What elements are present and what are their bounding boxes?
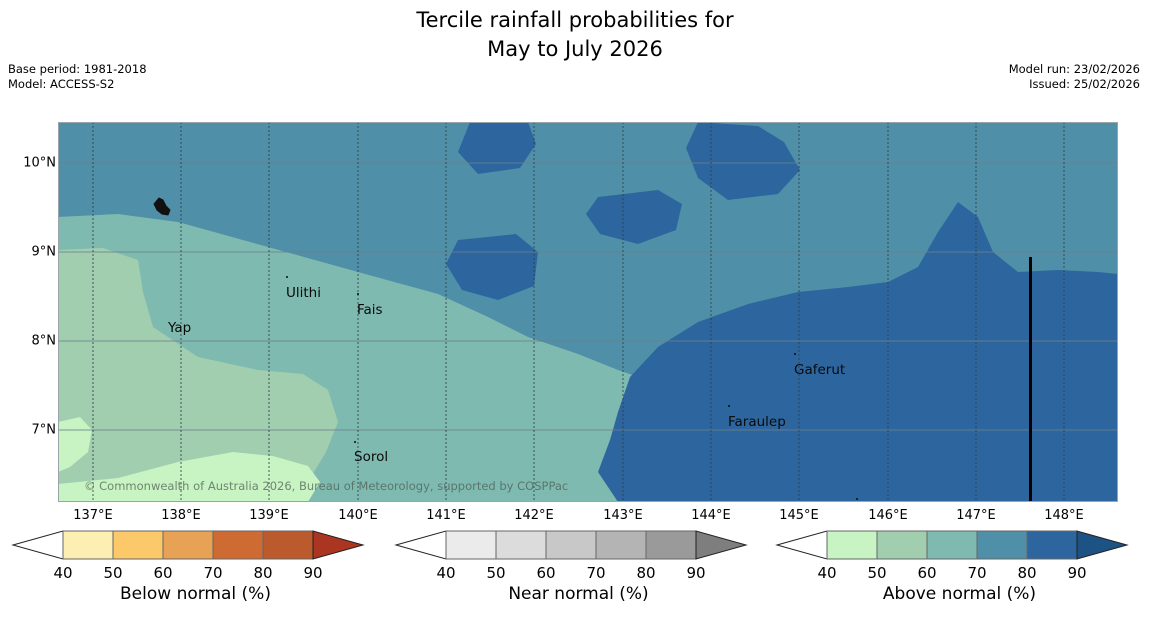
cb-above-tick-90: 90 [1067, 564, 1086, 582]
meta-left: Base period: 1981-2018 Model: ACCESS-S2 [8, 62, 147, 92]
cb-above-title: Above normal (%) [772, 584, 1147, 604]
model-text: Model: ACCESS-S2 [8, 77, 147, 92]
cb-above-tick-50: 50 [867, 564, 886, 582]
place-dot-gaferut [794, 353, 796, 355]
colorbar-above-normal-swatches [772, 528, 1132, 562]
y-tick-9n: 9°N [32, 245, 57, 260]
cb-near-tick-60: 60 [536, 564, 555, 582]
cb-above-tick-70: 70 [967, 564, 986, 582]
page-title: Tercile rainfall probabilities for May t… [0, 6, 1150, 64]
place-label-yap: Yap [168, 320, 191, 336]
model-run-text: Model run: 23/02/2026 [1009, 62, 1140, 77]
cb-near-tick-90: 90 [686, 564, 705, 582]
place-label-faraulep: Faraulep [728, 414, 786, 430]
map-canvas: Ulithi Fais Yap Sorol Gaferut Faraulep W… [58, 122, 1118, 502]
place-dot-lamotrek [856, 498, 858, 500]
cb-near-tick-70: 70 [586, 564, 605, 582]
x-tick-143e: 143°E [603, 508, 643, 523]
y-tick-10n: 10°N [23, 156, 56, 171]
cb-above-tick-40: 40 [817, 564, 836, 582]
colorbar-near-normal-swatches [391, 528, 751, 562]
contour-field [58, 122, 1118, 502]
issued-text: Issued: 25/02/2026 [1009, 77, 1140, 92]
y-tick-7n: 7°N [32, 423, 57, 438]
colorbar-above-normal: 40 50 60 70 80 90 Above normal (%) [772, 528, 1147, 638]
cb-near-tick-80: 80 [636, 564, 655, 582]
x-tick-138e: 138°E [161, 508, 201, 523]
place-dot-faraulep [728, 405, 730, 407]
meridian-line [1029, 257, 1032, 502]
cb-below-tick-80: 80 [253, 564, 272, 582]
colorbar-below-normal: 40 50 60 70 80 90 Below normal (%) [8, 528, 383, 638]
place-label-gaferut: Gaferut [794, 362, 845, 378]
place-label-ulithi: Ulithi [286, 285, 321, 301]
x-tick-145e: 145°E [779, 508, 819, 523]
place-label-fais: Fais [357, 302, 383, 318]
x-tick-139e: 139°E [249, 508, 289, 523]
x-tick-147e: 147°E [956, 508, 996, 523]
place-dot-ulithi [286, 276, 288, 278]
place-dot-sorol [354, 441, 356, 443]
x-tick-146e: 146°E [868, 508, 908, 523]
cb-below-tick-40: 40 [53, 564, 72, 582]
colorbar-below-normal-swatches [8, 528, 368, 562]
cb-below-tick-50: 50 [103, 564, 122, 582]
place-label-sorol: Sorol [354, 449, 388, 465]
place-dot-fais [357, 293, 359, 295]
y-tick-8n: 8°N [32, 334, 57, 349]
cb-below-tick-60: 60 [153, 564, 172, 582]
x-tick-144e: 144°E [691, 508, 731, 523]
cb-near-tick-40: 40 [436, 564, 455, 582]
cb-below-tick-70: 70 [203, 564, 222, 582]
probability-map: Ulithi Fais Yap Sorol Gaferut Faraulep W… [58, 122, 1118, 502]
x-tick-137e: 137°E [73, 508, 113, 523]
colorbar-near-normal: 40 50 60 70 80 90 Near normal (%) [391, 528, 766, 638]
x-tick-141e: 141°E [426, 508, 466, 523]
cb-near-tick-50: 50 [486, 564, 505, 582]
cb-above-tick-80: 80 [1017, 564, 1036, 582]
meta-right: Model run: 23/02/2026 Issued: 25/02/2026 [1009, 62, 1140, 92]
cb-above-tick-60: 60 [917, 564, 936, 582]
x-tick-140e: 140°E [338, 508, 378, 523]
x-tick-148e: 148°E [1044, 508, 1084, 523]
copyright-text: © Commonwealth of Australia 2026, Bureau… [84, 479, 568, 493]
x-tick-142e: 142°E [514, 508, 554, 523]
cb-near-title: Near normal (%) [391, 584, 766, 604]
cb-below-tick-90: 90 [303, 564, 322, 582]
base-period-text: Base period: 1981-2018 [8, 62, 147, 77]
cb-below-title: Below normal (%) [8, 584, 383, 604]
